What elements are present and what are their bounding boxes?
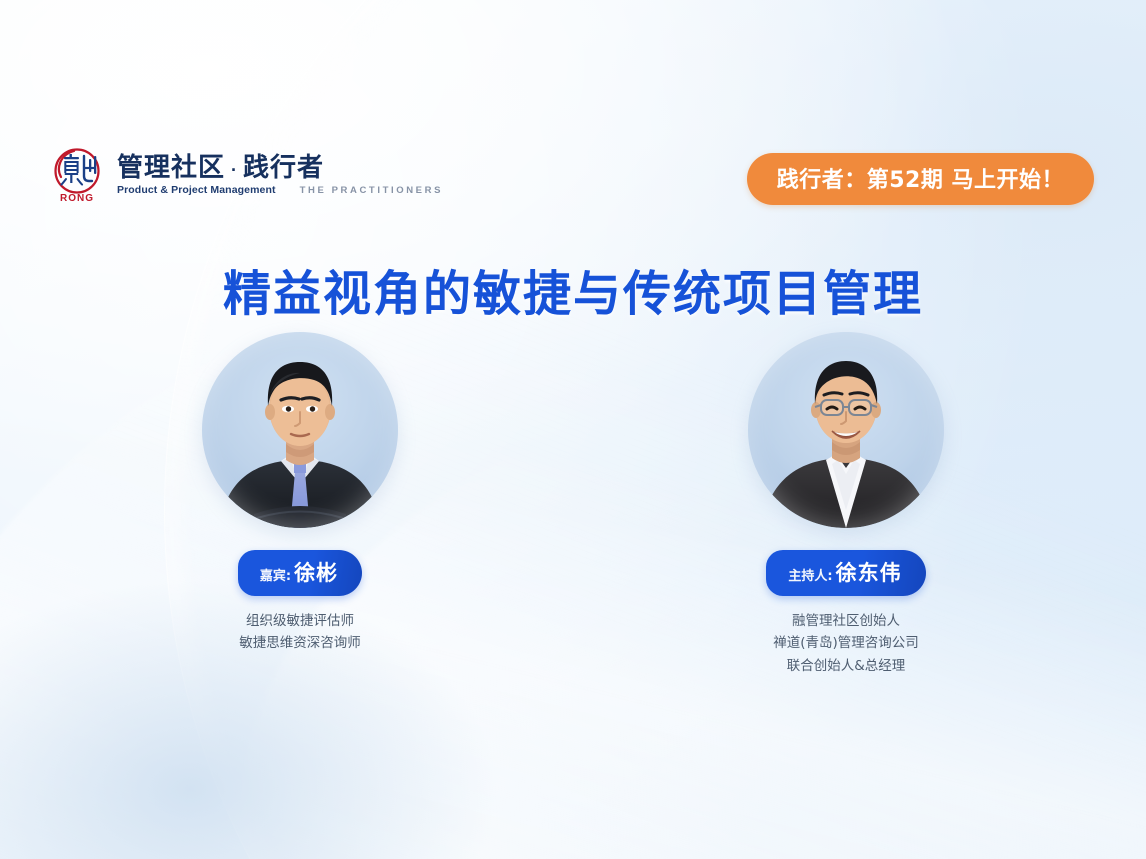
brand-logo-text: 管理社区 · 践行者 Product & Project Management …: [117, 155, 443, 196]
brand-dot-separator: ·: [231, 161, 237, 179]
slide-canvas: RONG 管理社区 · 践行者 Product & Project Manage…: [0, 0, 1146, 859]
speaker-list: 嘉宾: 徐彬 组织级敏捷评估师 敏捷思维资深咨询师: [0, 332, 1146, 677]
session-status-badge: 践行者：第52期 马上开始！: [747, 153, 1094, 205]
brand-cn-main: 管理社区: [117, 155, 225, 181]
rong-seal-icon: RONG: [50, 146, 106, 204]
credential-line: 敏捷思维资深咨询师: [239, 632, 361, 654]
speaker-role-label: 主持人:: [788, 565, 832, 584]
speaker-role-label: 嘉宾:: [260, 565, 291, 584]
speaker-name-badge: 主持人: 徐东伟: [766, 550, 925, 596]
speaker-credentials: 融管理社区创始人 禅道(青岛)管理咨询公司 联合创始人&总经理: [773, 610, 919, 677]
speaker-card-guest: 嘉宾: 徐彬 组织级敏捷评估师 敏捷思维资深咨询师: [171, 332, 429, 677]
credential-line: 禅道(青岛)管理咨询公司: [773, 632, 919, 654]
credential-line: 融管理社区创始人: [773, 610, 919, 632]
brand-logo: RONG 管理社区 · 践行者 Product & Project Manage…: [50, 146, 443, 204]
credential-line: 组织级敏捷评估师: [239, 610, 361, 632]
svg-text:RONG: RONG: [60, 193, 94, 204]
avatar: [748, 332, 944, 528]
credential-line: 联合创始人&总经理: [773, 655, 919, 677]
speaker-name-label: 徐东伟: [836, 557, 902, 587]
speaker-card-host: 主持人: 徐东伟 融管理社区创始人 禅道(青岛)管理咨询公司 联合创始人&总经理: [717, 332, 975, 677]
speaker-name-badge: 嘉宾: 徐彬: [238, 550, 362, 596]
brand-cn-sub: 践行者: [243, 155, 324, 181]
page-title: 精益视角的敏捷与传统项目管理: [0, 254, 1146, 324]
speaker-credentials: 组织级敏捷评估师 敏捷思维资深咨询师: [239, 610, 361, 655]
brand-en-main: Product & Project Management: [117, 185, 276, 196]
avatar: [202, 332, 398, 528]
brand-en-sub: THE PRACTITIONERS: [300, 186, 443, 196]
speaker-name-label: 徐彬: [294, 557, 338, 587]
